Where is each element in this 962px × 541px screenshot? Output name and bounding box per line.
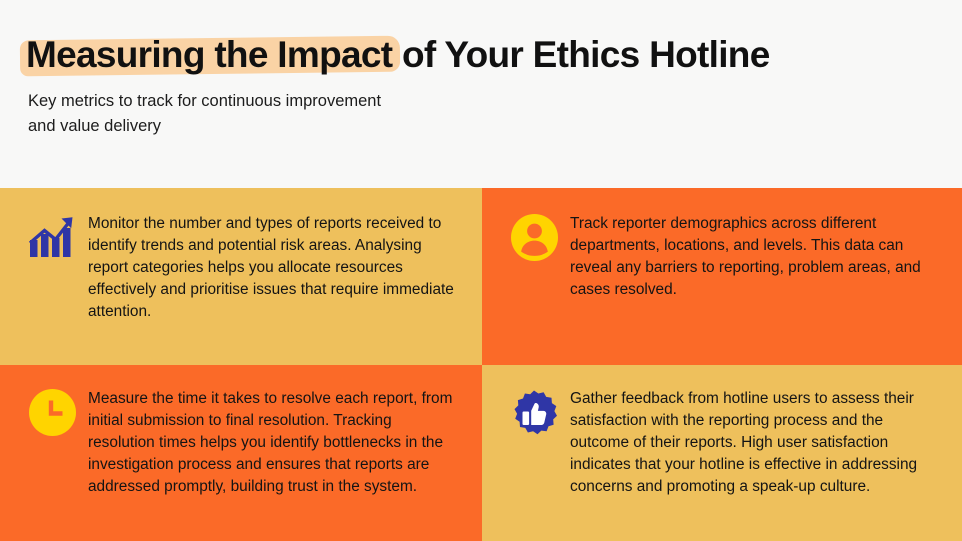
panel-text: Gather feedback from hotline users to as… [570, 387, 936, 497]
subtitle-line-1: Key metrics to track for continuous impr… [28, 89, 548, 113]
panel-reports-received[interactable]: Monitor the number and types of reports … [0, 188, 482, 365]
page-subtitle: Key metrics to track for continuous impr… [28, 89, 548, 137]
bar-chart-growth-icon [24, 214, 80, 266]
page-title: Measuring the Impact of Your Ethics Hotl… [26, 34, 770, 75]
slide-root: Measuring the Impact of Your Ethics Hotl… [0, 0, 962, 541]
person-circle-icon [506, 214, 562, 266]
panel-resolution-time[interactable]: Measure the time it takes to resolve eac… [0, 365, 482, 541]
metrics-grid: Monitor the number and types of reports … [0, 188, 962, 541]
panel-text: Monitor the number and types of reports … [88, 212, 456, 322]
panel-text: Measure the time it takes to resolve eac… [88, 387, 456, 497]
title-rest-text: of Your Ethics Hotline [392, 34, 769, 75]
thumbs-up-badge-icon [506, 389, 562, 441]
panel-reporter-demographics[interactable]: Track reporter demographics across diffe… [482, 188, 962, 365]
slide-header: Measuring the Impact of Your Ethics Hotl… [0, 0, 962, 188]
clock-icon [24, 389, 80, 441]
subtitle-line-2: and value delivery [28, 114, 548, 138]
title-highlight: Measuring the Impact [26, 34, 392, 75]
panel-text: Track reporter demographics across diffe… [570, 212, 936, 301]
panel-user-satisfaction[interactable]: Gather feedback from hotline users to as… [482, 365, 962, 541]
title-highlighted-text: Measuring the Impact [26, 34, 392, 75]
